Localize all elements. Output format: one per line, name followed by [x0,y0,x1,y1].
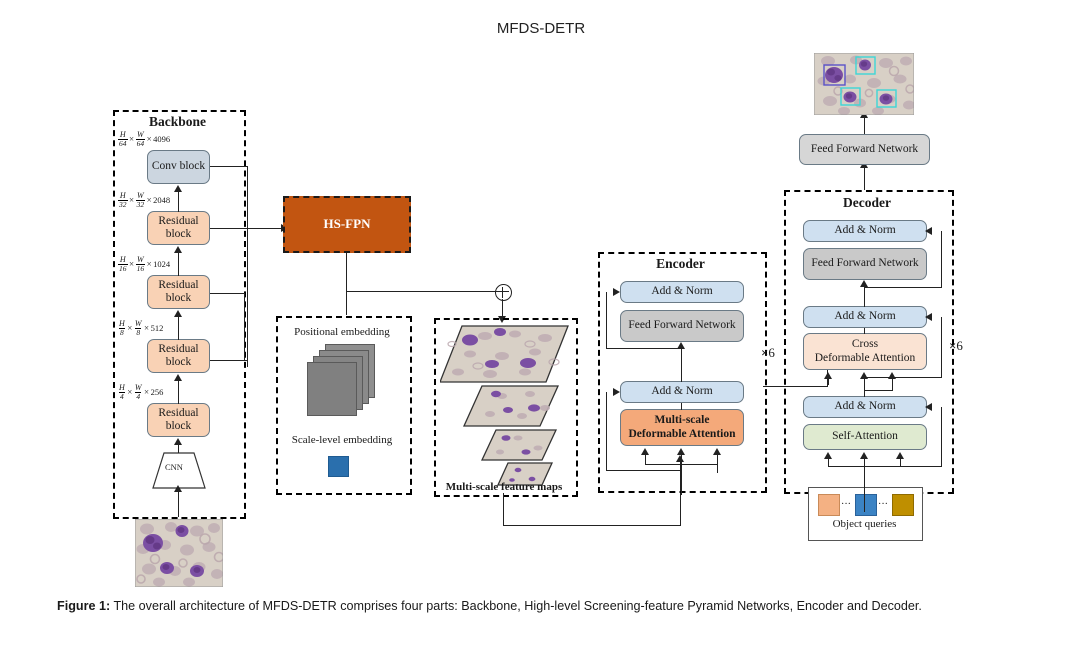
dim-h-den: 8 [119,328,125,337]
decoder-cross-deformable-attention[interactable]: Cross Deformable Attention [803,333,927,370]
dim-label-res2: H8 × W8 ×512 [118,320,163,337]
dim-w-den: 64 [136,139,146,148]
decoder-residual-line [941,231,942,288]
dim-label-conv: H64 × W64 ×4096 [118,131,170,148]
encoder-residual-line [606,348,682,349]
encoder-repeat-label: ×6 [761,345,775,361]
encoder-residual-line2 [606,392,607,471]
positional-embedding-sheet [307,362,357,416]
arrow-line [178,381,179,404]
encoder-add-norm-top[interactable]: Add & Norm [620,281,744,303]
conv-block[interactable]: Conv block [147,150,210,184]
dim-h: H [119,131,127,139]
encoder-ms-deformable-attention[interactable]: Multi-scale Deformable Attention [620,409,744,446]
backbone-to-fpn-line [210,228,283,229]
decoder-input-line [864,379,865,397]
arrow-head [925,403,932,411]
object-query-swatch-1 [818,494,840,516]
decoder-input-line [828,379,829,385]
skip-line [210,293,245,294]
encoder-ffn[interactable]: Feed Forward Network [620,310,744,342]
dim-w-den: 16 [136,264,146,273]
arrow-head [641,448,649,455]
arrow-head [613,288,620,296]
dim-label-res4: H32 × W32 ×2048 [118,192,170,209]
dim-h-den: 4 [119,392,125,401]
residual-block-4[interactable]: Residual block [147,211,210,245]
arrow-head [613,388,620,396]
encoder-title: Encoder [598,256,763,272]
residual-block-label: Residual block [148,407,209,433]
decoder-residual-line2 [941,317,942,378]
arrow-head [888,372,896,379]
featmaps-out-line [503,493,504,526]
encoder-ffn-label: Feed Forward Network [628,319,735,332]
decoder-add-norm-mid[interactable]: Add & Norm [803,306,927,328]
dim-h: H [119,192,127,200]
page-title: MFDS-DETR [0,20,1082,37]
dim-w: W [136,256,145,264]
object-query-swatch-3 [892,494,914,516]
figure-caption: Figure 1: The overall architecture of MF… [57,597,1027,617]
decoder-repeat-count: 6 [956,338,963,353]
arrow-line [178,492,179,517]
figure-caption-label: Figure 1: [57,599,110,613]
decoder-residual-line3 [941,407,942,467]
decoder-ffn-label: Feed Forward Network [811,257,918,270]
object-query-swatch-2 [855,494,877,516]
output-ffn-label: Feed Forward Network [811,143,918,156]
scale-level-embedding-swatch [328,456,349,477]
decoder-cross-label-line1: Cross [852,338,878,351]
arrow-head [677,448,685,455]
arrow-head [824,372,832,379]
arrow-head [860,372,868,379]
decoder-sa-input-line [828,466,901,467]
residual-block-label: Residual block [148,215,209,241]
dim-label-res1: H4 × W4 ×256 [118,384,163,401]
arrow-head [860,280,868,287]
arrow-line [178,192,179,212]
dim-channels: 2048 [153,195,170,205]
dim-h: H [118,320,126,328]
dim-h: H [119,256,127,264]
encoder-inner-line [681,349,682,382]
arrow-head [896,452,904,459]
skip-line [244,293,245,361]
input-blood-smear-image [135,519,223,587]
residual-block-3[interactable]: Residual block [147,275,210,309]
hs-fpn-label: HS-FPN [283,216,411,232]
decoder-self-attention[interactable]: Self-Attention [803,424,927,450]
decoder-input-line [864,390,893,391]
encoder-residual-line2 [606,470,682,471]
feature-maps-label: Multi-scale feature maps [434,481,574,493]
decoder-title: Decoder [784,195,950,211]
output-detection-image [814,53,914,115]
skip-line [210,360,248,361]
arrow-head [174,246,182,253]
object-queries-label: Object queries [808,518,921,530]
object-queries-ellipsis: ··· [841,499,851,510]
residual-block-label: Residual block [148,279,209,305]
arrow-line [178,445,179,453]
arrow-head [824,452,832,459]
decoder-add-norm-bottom[interactable]: Add & Norm [803,396,927,418]
encoder-input-line [645,464,718,465]
arrow-head [174,310,182,317]
residual-block-label: Residual block [148,343,209,369]
encoder-input-line [681,455,682,495]
skip-line [210,166,248,167]
decoder-residual-line2 [864,377,942,378]
residual-block-2[interactable]: Residual block [147,339,210,373]
arrow-head [174,438,182,445]
dim-channels: 4096 [153,134,170,144]
cnn-label: CNN [165,462,183,472]
dim-h-den: 32 [118,200,128,209]
dim-w-den: 8 [135,328,141,337]
decoder-ffn[interactable]: Feed Forward Network [803,248,927,280]
encoder-repeat-count: 6 [768,345,775,360]
decoder-add-norm-bottom-label: Add & Norm [834,400,895,413]
dim-w: W [136,192,145,200]
dim-h-den: 16 [118,264,128,273]
dim-w-den: 4 [135,392,141,401]
encoder-add-norm-bottom-label: Add & Norm [651,385,712,398]
arrow-head [860,452,868,459]
decoder-residual-line [864,287,942,288]
arrow-head [174,374,182,381]
output-to-image-line [864,118,865,134]
output-ffn-block[interactable]: Feed Forward Network [799,134,930,165]
multi-scale-feature-maps [440,322,572,487]
arrow-line [178,317,179,340]
dim-label-res3: H16 × W16 ×1024 [118,256,170,273]
decoder-to-output-line [864,168,865,190]
arrow-head [174,485,182,492]
dim-h-den: 64 [118,139,128,148]
decoder-add-norm-mid-label: Add & Norm [834,310,895,323]
dim-w: W [134,384,143,392]
dim-w: W [134,320,143,328]
dim-h: H [118,384,126,392]
arrow-head [925,313,932,321]
fpn-out-line [346,253,347,315]
decoder-self-attention-label: Self-Attention [832,430,898,443]
figure-caption-text: The overall architecture of MFDS-DETR co… [110,599,922,613]
encoder-add-norm-bottom[interactable]: Add & Norm [620,381,744,403]
positional-embedding-label: Positional embedding [276,326,408,338]
backbone-title: Backbone [113,114,242,130]
dim-w: W [136,131,145,139]
queries-to-decoder-line [864,487,865,512]
arrow-line [178,253,179,276]
encoder-residual-line [606,292,607,349]
conv-block-label: Conv block [152,160,205,173]
dim-w-den: 32 [136,200,146,209]
featmaps-to-encoder-line [503,525,681,526]
sum-operator-icon [495,284,512,301]
decoder-add-norm-top-label: Add & Norm [834,224,895,237]
residual-block-1[interactable]: Residual block [147,403,210,437]
encoder-inner-line [681,403,682,410]
encoder-attention-label-line2: Deformable Attention [629,428,736,441]
dim-channels: 256 [151,387,164,397]
dim-channels: 512 [151,323,164,333]
decoder-cross-label-line2: Deformable Attention [815,352,916,365]
object-queries-ellipsis: ··· [878,499,888,510]
skip-line [247,166,248,367]
dim-channels: 1024 [153,259,170,269]
arrow-head [713,448,721,455]
arrow-head [925,227,932,235]
arrow-head [174,185,182,192]
decoder-inner-line [864,287,865,307]
decoder-add-norm-top[interactable]: Add & Norm [803,220,927,242]
fpn-to-sum-line [346,291,499,292]
encoder-add-norm-top-label: Add & Norm [651,285,712,298]
scale-level-embedding-label: Scale-level embedding [276,434,408,446]
decoder-inner-line [864,328,865,334]
encoder-attention-label-line1: Multi-scale [655,414,710,427]
decoder-repeat-label: ×6 [949,338,963,354]
